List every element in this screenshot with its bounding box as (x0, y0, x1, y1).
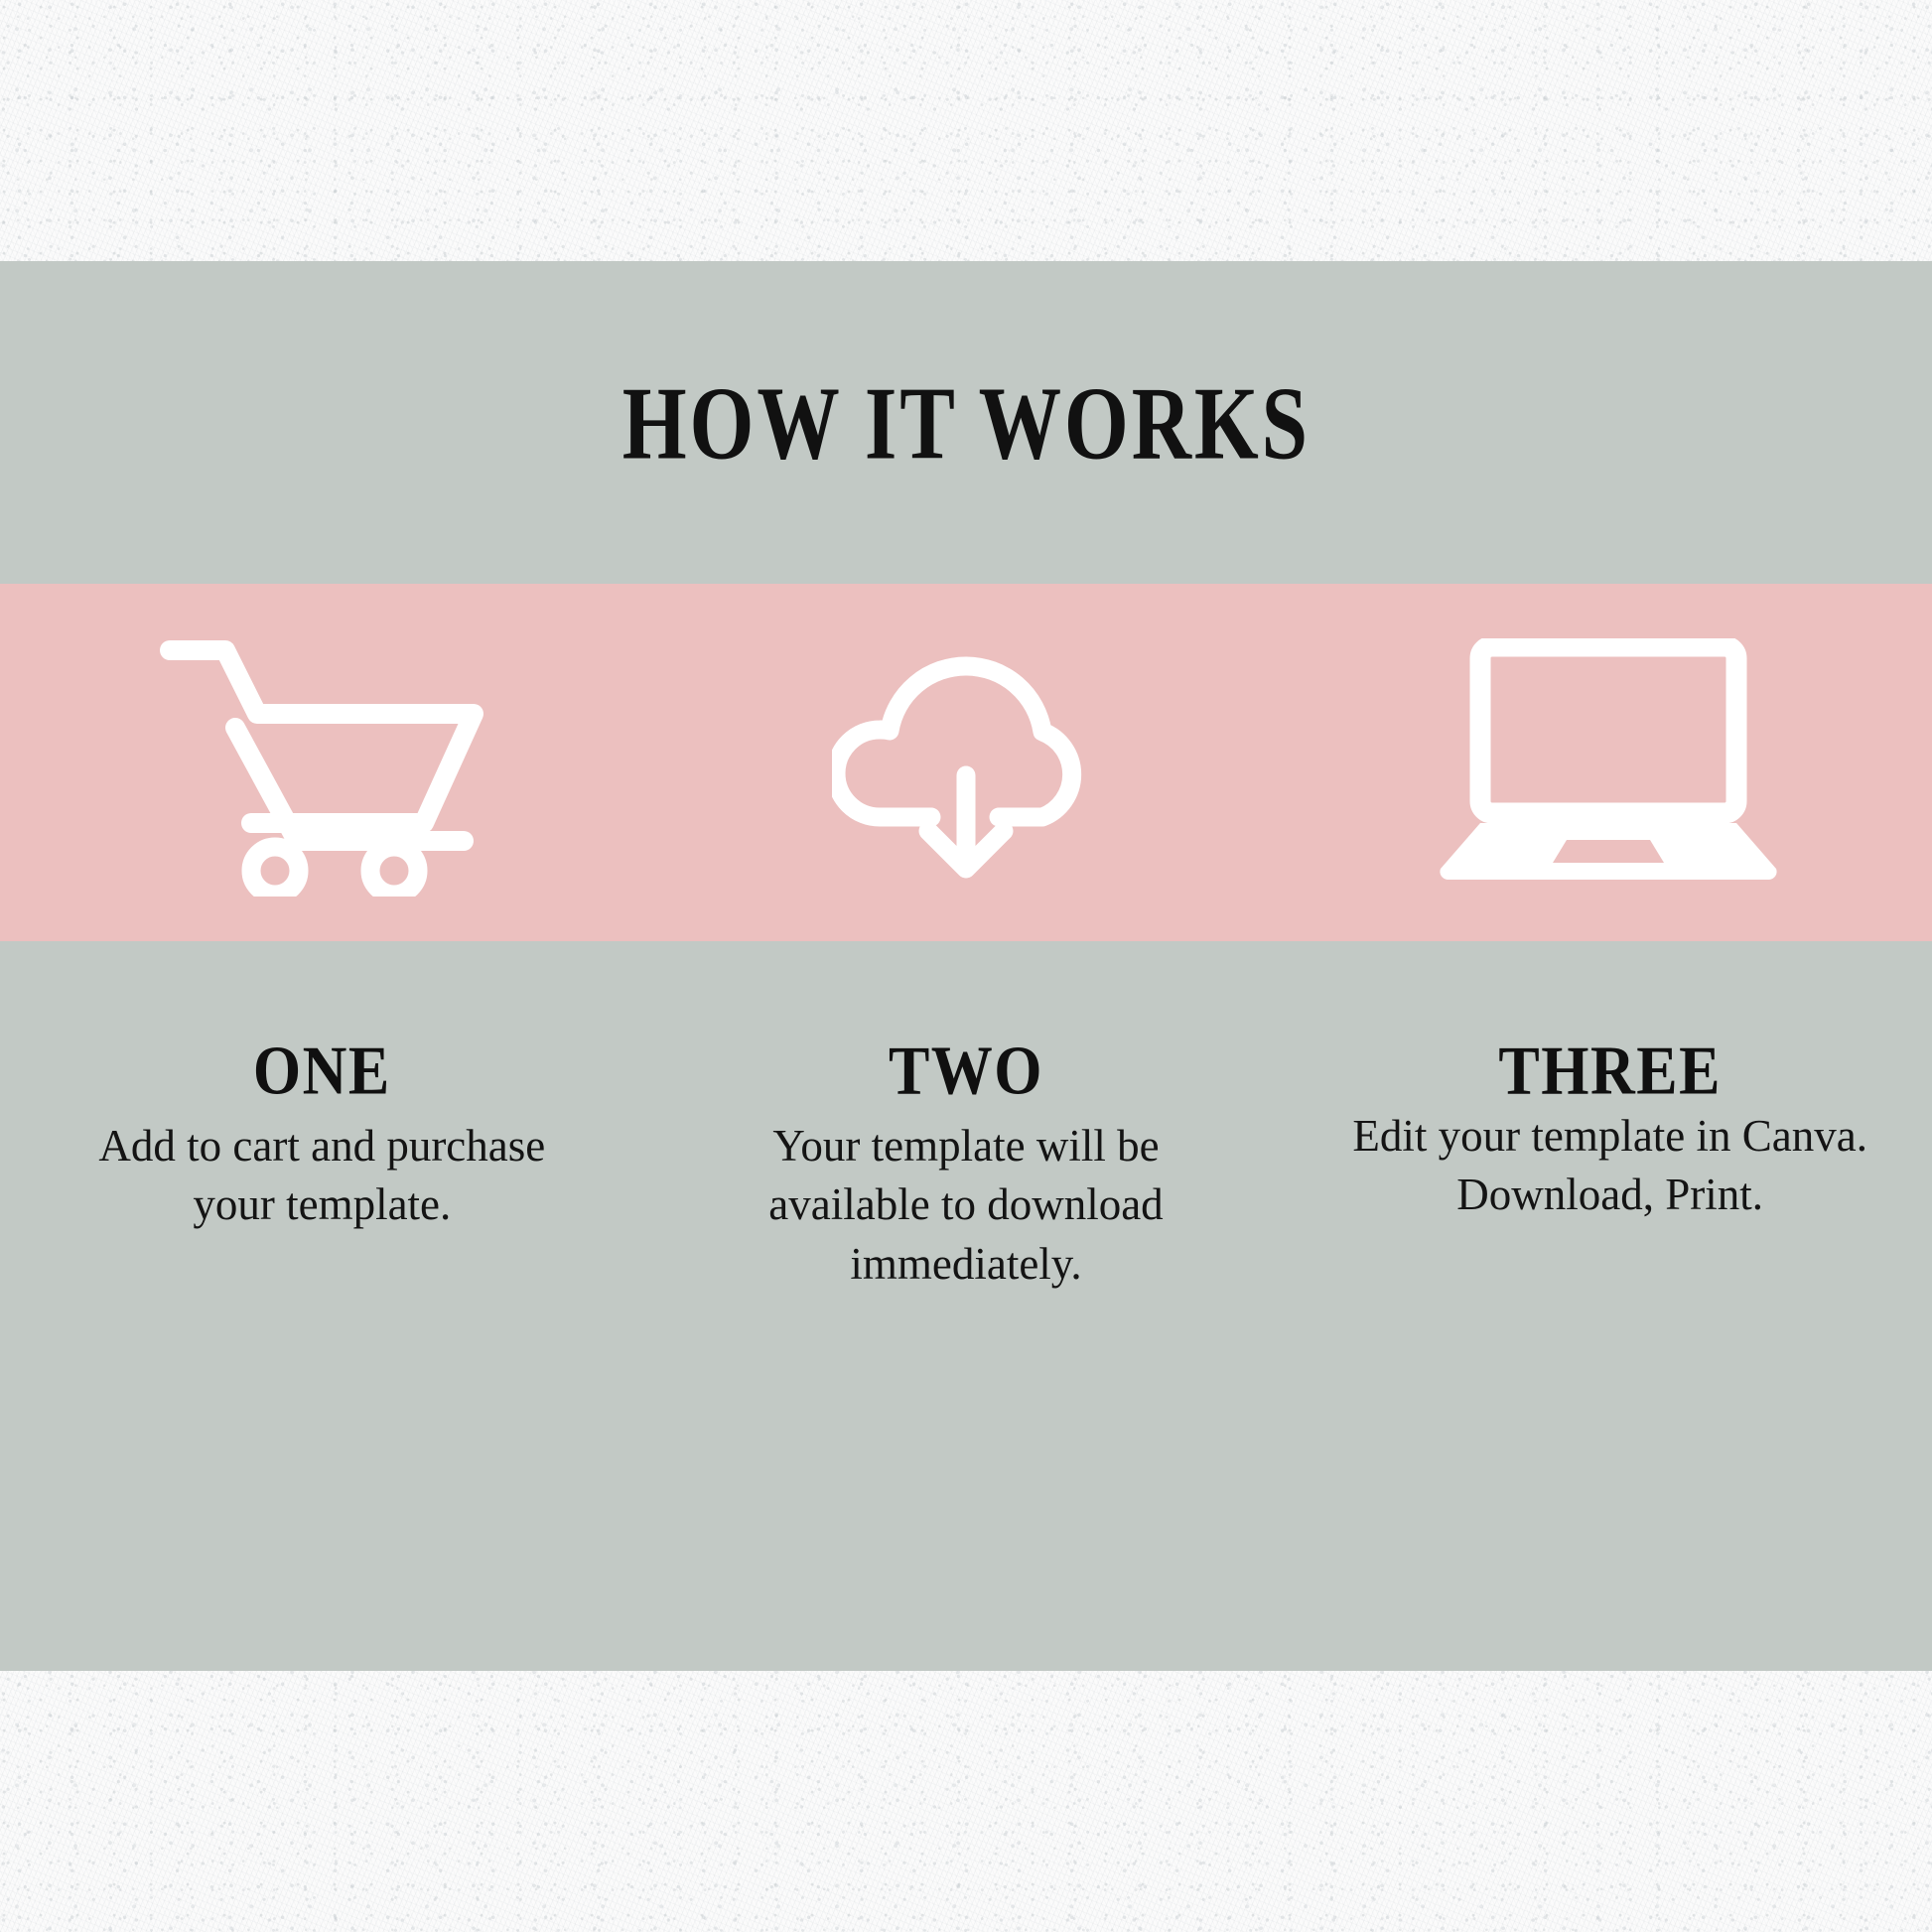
steps-row: ONE Add to cart and purchase your templa… (0, 1033, 1932, 1294)
step-two-body: Your template will be available to downl… (733, 1117, 1199, 1294)
step-one-body: Add to cart and purchase your template. (59, 1117, 585, 1235)
shopping-cart-icon (158, 628, 485, 897)
cloud-download-icon (832, 628, 1100, 897)
step-three-body: Edit your template in Canva. Download, P… (1347, 1107, 1873, 1225)
step-two: TWO Your template will be available to d… (644, 1033, 1289, 1294)
step-three: THREE Edit your template in Canva. Downl… (1288, 1033, 1932, 1294)
page-title-text: HOW IT WORKS (621, 362, 1310, 483)
step-one: ONE Add to cart and purchase your templa… (0, 1033, 644, 1294)
icon-cell-two (644, 584, 1289, 941)
step-three-title: THREE (1327, 1033, 1892, 1112)
icon-cell-one (0, 584, 644, 941)
laptop-icon (1439, 638, 1781, 887)
icon-cell-three (1288, 584, 1932, 941)
step-two-title: TWO (684, 1033, 1249, 1112)
infographic-canvas: HOW IT WORKS (0, 0, 1932, 1932)
icon-row (0, 584, 1932, 941)
step-one-title: ONE (40, 1033, 605, 1112)
page-title: HOW IT WORKS (0, 261, 1932, 584)
